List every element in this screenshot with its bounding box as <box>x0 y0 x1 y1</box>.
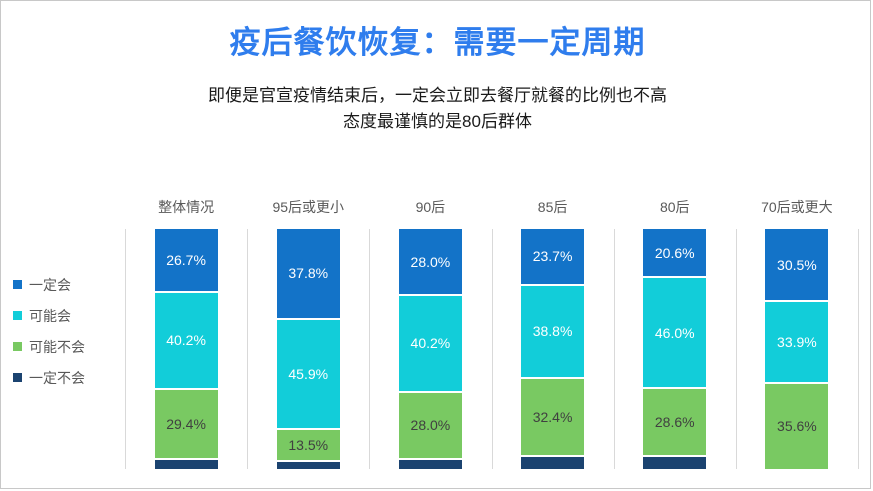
bar-segment[interactable] <box>155 460 218 469</box>
subtitle-line-1: 即便是官宣疫情结束后，一定会立即去餐厅就餐的比例也不高 <box>1 83 873 109</box>
bar-segment[interactable]: 38.8% <box>521 286 584 379</box>
page-title: 疫后餐饮恢复：需要一定周期 <box>1 17 873 62</box>
stacked-bar[interactable]: 30.5%33.9%35.6% <box>765 229 828 469</box>
bar-segment[interactable] <box>277 462 340 469</box>
chart-category-column: 80后20.6%46.0%28.6% <box>614 229 736 469</box>
legend-swatch-icon <box>13 311 22 320</box>
category-axis-label: 90后 <box>369 197 491 217</box>
category-axis-label: 95后或更小 <box>247 197 369 217</box>
bar-segment[interactable]: 45.9% <box>277 320 340 430</box>
chart-category-column: 95后或更小37.8%45.9%13.5% <box>247 229 369 469</box>
bar-segment[interactable] <box>521 457 584 469</box>
bar-segment-label: 37.8% <box>288 266 328 280</box>
legend-item[interactable]: 可能会 <box>13 300 123 331</box>
stacked-bar[interactable]: 28.0%40.2%28.0% <box>399 229 462 469</box>
chart-category-column: 90后28.0%40.2%28.0% <box>369 229 491 469</box>
chart-category-column: 70后或更大30.5%33.9%35.6% <box>736 229 858 469</box>
bar-segment[interactable]: 13.5% <box>277 430 340 462</box>
legend-item[interactable]: 一定会 <box>13 269 123 300</box>
bar-segment[interactable] <box>399 460 462 469</box>
chart-category-column: 整体情况26.7%40.2%29.4% <box>125 229 247 469</box>
category-axis-label: 85后 <box>492 197 614 217</box>
legend-swatch-icon <box>13 342 22 351</box>
bar-segment[interactable]: 37.8% <box>277 229 340 320</box>
bar-segment[interactable]: 28.0% <box>399 393 462 460</box>
bar-segment[interactable]: 33.9% <box>765 302 828 383</box>
legend-swatch-icon <box>13 280 22 289</box>
bar-segment-label: 23.7% <box>533 249 573 263</box>
bar-segment-label: 46.0% <box>655 326 695 340</box>
bar-segment[interactable]: 35.6% <box>765 384 828 469</box>
bar-segment[interactable]: 20.6% <box>643 229 706 278</box>
bar-segment-label: 38.8% <box>533 324 573 338</box>
category-axis-label: 整体情况 <box>125 197 247 217</box>
bar-segment-label: 28.0% <box>411 255 451 269</box>
category-axis-label: 70后或更大 <box>736 197 858 217</box>
legend-item-label: 一定不会 <box>29 368 85 388</box>
category-axis-label: 80后 <box>614 197 736 217</box>
bar-segment[interactable]: 26.7% <box>155 229 218 293</box>
legend-item[interactable]: 可能不会 <box>13 331 123 362</box>
legend-item-label: 可能会 <box>29 306 71 326</box>
bar-segment-label: 35.6% <box>777 419 817 433</box>
bar-segment[interactable]: 29.4% <box>155 390 218 461</box>
bar-segment-label: 40.2% <box>411 336 451 350</box>
legend-item-label: 可能不会 <box>29 337 85 357</box>
bar-segment[interactable]: 23.7% <box>521 229 584 286</box>
bar-segment-label: 13.5% <box>288 438 328 452</box>
stacked-bar[interactable]: 20.6%46.0%28.6% <box>643 229 706 469</box>
bar-segment[interactable]: 28.0% <box>399 229 462 296</box>
bar-segment-label: 45.9% <box>288 367 328 381</box>
legend-item-label: 一定会 <box>29 275 71 295</box>
bar-segment[interactable] <box>643 457 706 469</box>
legend-swatch-icon <box>13 373 22 382</box>
bar-segment[interactable]: 30.5% <box>765 229 828 302</box>
bar-segment-label: 28.0% <box>411 418 451 432</box>
bar-segment-label: 28.6% <box>655 415 695 429</box>
gridline <box>858 229 859 469</box>
plot-area: 整体情况26.7%40.2%29.4%95后或更小37.8%45.9%13.5%… <box>125 229 858 469</box>
bar-segment[interactable]: 32.4% <box>521 379 584 457</box>
subtitle-line-2: 态度最谨慎的是80后群体 <box>1 109 873 135</box>
bar-segment-label: 20.6% <box>655 246 695 260</box>
chart-subtitle: 即便是官宣疫情结束后，一定会立即去餐厅就餐的比例也不高 态度最谨慎的是80后群体 <box>1 83 873 135</box>
bar-segment-label: 26.7% <box>166 253 206 267</box>
bar-segment[interactable]: 40.2% <box>155 293 218 389</box>
stacked-bar[interactable]: 26.7%40.2%29.4% <box>155 229 218 469</box>
chart-category-column: 85后23.7%38.8%32.4% <box>492 229 614 469</box>
bar-segment[interactable]: 40.2% <box>399 296 462 392</box>
legend-item[interactable]: 一定不会 <box>13 362 123 393</box>
chart-legend: 一定会可能会可能不会一定不会 <box>13 269 123 393</box>
stacked-bar[interactable]: 37.8%45.9%13.5% <box>277 229 340 469</box>
bar-segment[interactable]: 28.6% <box>643 389 706 458</box>
bar-segment-label: 30.5% <box>777 258 817 272</box>
stacked-bar[interactable]: 23.7%38.8%32.4% <box>521 229 584 469</box>
bar-segment-label: 33.9% <box>777 335 817 349</box>
bar-segment-label: 40.2% <box>166 333 206 347</box>
chart-frame: 疫后餐饮恢复：需要一定周期 即便是官宣疫情结束后，一定会立即去餐厅就餐的比例也不… <box>0 0 871 489</box>
bar-segment-label: 32.4% <box>533 410 573 424</box>
bar-segment-label: 29.4% <box>166 417 206 431</box>
bar-segment[interactable]: 46.0% <box>643 278 706 388</box>
